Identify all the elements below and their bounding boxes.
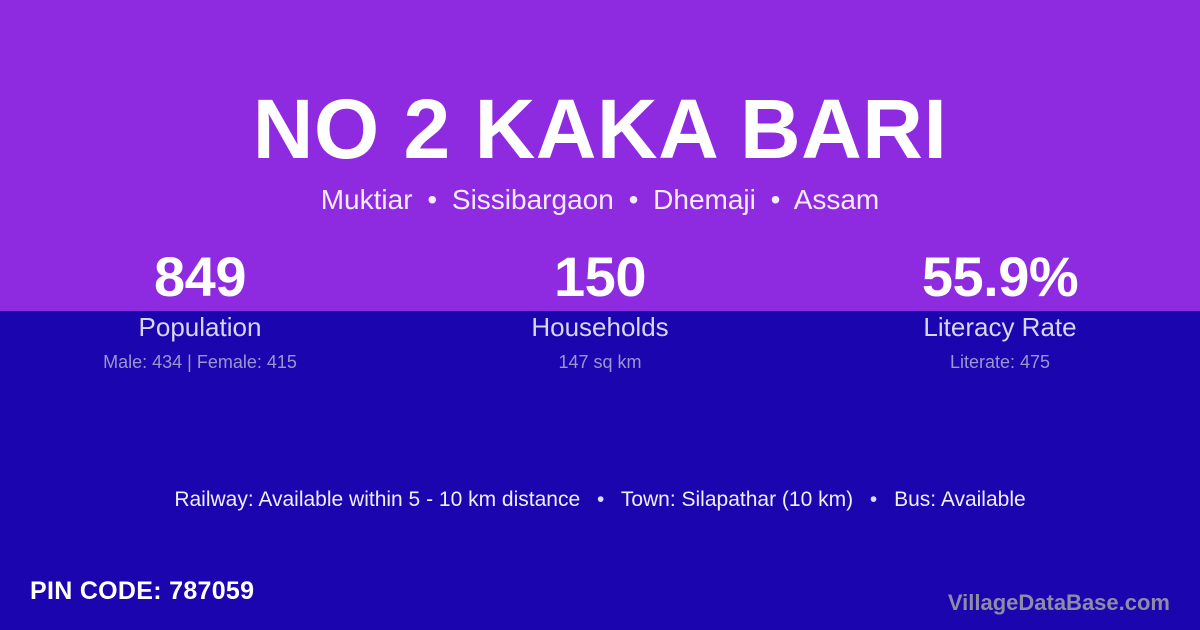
breadcrumb-item-block: Muktiar: [321, 184, 413, 215]
bullet-separator-icon: •: [859, 488, 888, 511]
site-brand: VillageDataBase.com: [948, 590, 1170, 616]
facilities-line: Railway: Available within 5 - 10 km dist…: [0, 486, 1200, 514]
stats-row: 849 Population Male: 434 | Female: 415 1…: [0, 248, 1200, 373]
stat-label: Population: [0, 312, 400, 342]
stat-literacy-rate: 55.9% Literacy Rate Literate: 475: [800, 248, 1200, 373]
stat-sublabel: Literate: 475: [800, 351, 1200, 373]
bullet-separator-icon: •: [764, 184, 788, 215]
stat-value: 849: [0, 248, 400, 306]
breadcrumb: Muktiar • Sissibargaon • Dhemaji • Assam: [0, 183, 1200, 217]
breadcrumb-item-state: Assam: [794, 184, 880, 215]
stat-sublabel: 147 sq km: [400, 351, 800, 373]
page-title: NO 2 KAKA BARI: [0, 84, 1200, 174]
facility-town: Town: Silapathar (10 km): [621, 488, 853, 511]
pin-code: PIN CODE: 787059: [30, 576, 254, 606]
bullet-separator-icon: •: [586, 488, 615, 511]
bullet-separator-icon: •: [622, 184, 646, 215]
stat-label: Households: [400, 312, 800, 342]
facility-railway: Railway: Available within 5 - 10 km dist…: [174, 488, 580, 511]
stat-label: Literacy Rate: [800, 312, 1200, 342]
breadcrumb-item-district: Dhemaji: [653, 184, 756, 215]
village-info-card: NO 2 KAKA BARI Muktiar • Sissibargaon • …: [0, 0, 1200, 630]
stat-value: 55.9%: [800, 248, 1200, 306]
stat-value: 150: [400, 248, 800, 306]
stat-households: 150 Households 147 sq km: [400, 248, 800, 373]
bullet-separator-icon: •: [420, 184, 444, 215]
stat-population: 849 Population Male: 434 | Female: 415: [0, 248, 400, 373]
breadcrumb-item-panchayat: Sissibargaon: [452, 184, 614, 215]
facility-bus: Bus: Available: [894, 488, 1026, 511]
stat-sublabel: Male: 434 | Female: 415: [0, 351, 400, 373]
